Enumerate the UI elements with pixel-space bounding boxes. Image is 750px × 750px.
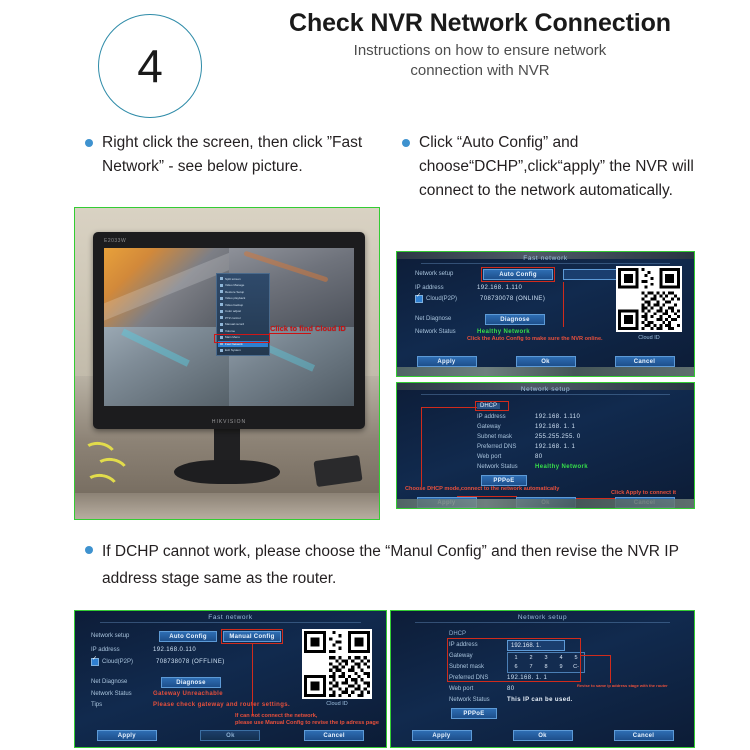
field-dhcp[interactable]: DHCP — [449, 631, 466, 637]
field-label: Subnet mask — [477, 434, 535, 440]
field-ip-address: IP address 192.168. 1.110 — [415, 285, 522, 291]
dialog-footer-buttons: Apply Ok Cancel — [75, 730, 386, 741]
context-menu-item[interactable]: PTZ control — [218, 315, 268, 321]
diagnose-button[interactable]: Diagnose — [161, 677, 221, 688]
bullet-dot-icon — [85, 139, 93, 147]
menu-bullet-icon — [220, 310, 223, 313]
instruction-text-2: Click “Auto Config” and choose“DCHP”,cli… — [419, 131, 732, 203]
network-status-value: This IP can be used. — [507, 697, 573, 703]
network-status-value: Healthy Network — [535, 464, 588, 470]
pppoe-button[interactable]: PPPoE — [451, 708, 497, 719]
context-menu-item[interactable]: Video backup — [218, 302, 268, 308]
annotation-leader-line — [610, 655, 611, 683]
dhcp-label: DHCP — [449, 631, 466, 637]
monitor-stand-base — [174, 460, 280, 484]
context-menu-label: Video Manage — [225, 283, 244, 287]
menu-bullet-icon — [220, 323, 223, 326]
field-value: 708738078 (OFFLINE) — [156, 659, 225, 665]
ok-button[interactable]: Ok — [516, 356, 576, 367]
bullet-dot-icon — [402, 139, 410, 147]
title-divider — [421, 263, 671, 264]
annotation-leader-line — [581, 655, 611, 656]
dialog-title: Network setup — [391, 614, 694, 621]
monitor-brand-label: HIKVISION — [212, 419, 246, 425]
monitor-photo: E2033W HIKVISION Split screen Video Mana… — [74, 207, 380, 520]
camera-channel-1 — [104, 248, 229, 327]
title-block: Check NVR Network Connection Instruction… — [230, 8, 730, 81]
field-network-setup: Network setup — [91, 633, 153, 639]
dialog-title: Fast network — [397, 255, 694, 262]
field-label: Network Status — [449, 697, 507, 703]
field-network-status: Network Status Healthy Network — [415, 329, 530, 335]
right-click-context-menu[interactable]: Split screen Video Manage Restore Setup … — [216, 273, 270, 356]
field-label: Network setup — [415, 271, 477, 277]
instruction-text-1: Right click the screen, then click ”Fast… — [102, 131, 375, 179]
context-menu-label: Volume — [225, 329, 235, 333]
cloud-id-qr-code — [616, 266, 682, 332]
field-value: 192.168. 1. 1 — [535, 444, 575, 450]
tips-value: Please check gateway and router settings… — [153, 702, 290, 708]
panel-annotation-line-1: If can not connect the network, — [235, 713, 317, 719]
ok-button[interactable]: Ok — [513, 730, 573, 741]
field-label: Web port — [449, 686, 507, 692]
slide-header: 4 Check NVR Network Connection Instructi… — [0, 0, 750, 120]
monitor-screen: Split screen Video Manage Restore Setup … — [104, 248, 354, 406]
nvr-fast-network-screenshot: Fast network Network setup Auto Config I… — [396, 251, 695, 377]
context-menu-label: Restore Setup — [225, 290, 244, 294]
field-ip-address: IP address 192.168. 1.110 — [477, 414, 580, 420]
field-value: 192.168. 1. 1 — [535, 424, 575, 430]
context-menu-label: Color adjust — [225, 309, 241, 313]
field-label: Net Diagnose — [91, 679, 153, 685]
photo-annotation-text: Click to find Cloud ID — [270, 324, 346, 333]
nvr-network-setup-dhcp-screenshot: Network setup DHCP IP address 192.168. 1… — [396, 382, 695, 509]
cloud-id-qr-code — [302, 629, 372, 699]
field-value: 255.255.255. 0 — [535, 434, 581, 440]
annotation-leader-line — [421, 407, 477, 408]
cancel-button[interactable]: Cancel — [615, 356, 675, 367]
field-label: Gateway — [477, 424, 535, 430]
field-gateway: Gateway 192.168. 1. 1 — [477, 424, 575, 430]
field-value: 80 — [535, 454, 542, 460]
context-menu-label: Split screen — [225, 277, 241, 281]
field-net-diagnose: Net Diagnose — [415, 316, 477, 322]
field-tips: Tips Please check gateway and router set… — [91, 702, 290, 708]
field-network-status: Network Status Gateway Unreachable — [91, 691, 223, 697]
dialog-footer-buttons: Apply Ok Cancel — [391, 730, 694, 741]
field-label: Network Status — [415, 329, 477, 335]
field-label: IP address — [477, 414, 535, 420]
cancel-button[interactable]: Cancel — [614, 730, 674, 741]
field-cloud-p2p: Cloud(P2P) 708738078 (OFFLINE) — [91, 658, 225, 666]
monitor-model-label: E2033W — [104, 238, 126, 244]
auto-config-highlight-box — [481, 267, 555, 282]
context-menu-item[interactable]: Video playback — [218, 295, 268, 301]
field-value: 192.168.0.110 — [153, 647, 196, 653]
field-network-status: Network Status This IP can be used. — [449, 697, 573, 703]
desk-surface — [75, 493, 379, 519]
manual-config-highlight-box — [221, 629, 283, 644]
page-subtitle-line-2: connection with NVR — [230, 61, 730, 81]
pppoe-button[interactable]: PPPoE — [481, 475, 527, 486]
dhcp-highlight-box — [475, 401, 509, 411]
context-menu-label: PTZ control — [225, 316, 241, 320]
menu-bullet-icon — [220, 303, 223, 306]
apply-button[interactable]: Apply — [412, 730, 472, 741]
ip-fields-highlight-box — [447, 638, 581, 682]
context-menu-label: Manual record — [225, 322, 244, 326]
field-label: Network setup — [91, 633, 153, 639]
context-menu-label: Video playback — [225, 296, 245, 300]
context-menu-item[interactable]: Volume — [218, 328, 268, 334]
context-menu-item[interactable]: Manual record — [218, 321, 268, 327]
apply-button[interactable]: Apply — [97, 730, 157, 741]
bullet-dot-icon — [85, 546, 93, 554]
title-divider — [421, 394, 671, 395]
panel-annotation: Click the Auto Config to make sure the N… — [467, 336, 603, 342]
cloud-id-label: Cloud ID — [302, 701, 372, 707]
step-number: 4 — [137, 43, 163, 89]
context-menu-item[interactable]: Video Manage — [218, 282, 268, 288]
menu-bullet-icon — [220, 349, 223, 352]
photo-edge-bottom — [397, 499, 694, 508]
field-value: 192.168. 1.110 — [535, 414, 580, 420]
context-menu-item[interactable]: Color adjust — [218, 308, 268, 314]
panel-annotation: Revise to same ip address stage with the… — [577, 683, 668, 688]
panel-annotation-line-2: please use Manual Config to revise the i… — [235, 720, 379, 726]
photo-edge-bottom — [397, 367, 694, 376]
field-value: 80 — [507, 686, 514, 692]
fast-network-highlight-box — [214, 334, 270, 343]
field-label: Network Status — [91, 691, 153, 697]
network-status-value: Healthy Network — [477, 329, 530, 335]
photo-annotation: Click to find Cloud ID — [270, 324, 346, 333]
instruction-bullet-2: Click “Auto Config” and choose“DCHP”,cli… — [402, 131, 732, 203]
panel-annotation-right: Click Apply to connect it — [611, 490, 676, 496]
menu-bullet-icon — [220, 290, 223, 293]
field-cloud-p2p: Cloud(P2P) 708730078 (ONLINE) — [415, 295, 545, 303]
step-number-badge: 4 — [98, 14, 202, 118]
menu-bullet-icon — [220, 316, 223, 319]
field-web-port: Web port 80 — [477, 454, 542, 460]
annotation-leader-line — [421, 407, 422, 487]
field-label: Cloud(P2P) — [426, 296, 480, 302]
slide-page: 4 Check NVR Network Connection Instructi… — [0, 0, 750, 750]
menu-bullet-icon — [220, 284, 223, 287]
context-menu-item[interactable]: Exit System — [218, 347, 268, 353]
field-label: Tips — [91, 702, 153, 708]
cloud-id-label: Cloud ID — [616, 335, 682, 341]
apply-button[interactable]: Apply — [417, 356, 477, 367]
menu-bullet-icon — [220, 277, 223, 280]
network-status-value: Gateway Unreachable — [153, 691, 223, 697]
field-net-diagnose: Net Diagnose — [91, 679, 153, 685]
context-menu-item[interactable]: Split screen — [218, 276, 268, 282]
cancel-button[interactable]: Cancel — [304, 730, 364, 741]
field-ip-address: IP address 192.168.0.110 — [91, 647, 196, 653]
field-subnet-mask: Subnet mask 255.255.255. 0 — [477, 434, 581, 440]
annotation-leader-line — [252, 644, 253, 716]
instruction-bullet-3: If DCHP cannot work, please choose the “… — [85, 538, 695, 592]
field-label: Network Status — [477, 464, 535, 470]
context-menu-label: Video backup — [225, 303, 243, 307]
instruction-text-3: If DCHP cannot work, please choose the “… — [102, 538, 695, 592]
field-label: Cloud(P2P) — [102, 659, 156, 665]
cloud-p2p-checkbox[interactable] — [415, 295, 423, 303]
nvr-fast-network-offline-screenshot: Fast network Network setup Auto Config M… — [74, 610, 387, 748]
instruction-bullet-1: Right click the screen, then click ”Fast… — [85, 131, 375, 179]
annotation-leader-line — [269, 333, 311, 334]
field-network-status: Network Status Healthy Network — [477, 464, 588, 470]
field-value: 192.168. 1.110 — [477, 285, 522, 291]
monitor-bezel: E2033W HIKVISION Split screen Video Mana… — [93, 232, 365, 429]
field-label: Web port — [477, 454, 535, 460]
panel-annotation-left: Choose DHCP mode,connect to the network … — [405, 486, 559, 492]
field-preferred-dns: Preferred DNS 192.168. 1. 1 — [477, 444, 575, 450]
dialog-footer-buttons: Apply Ok Cancel — [397, 356, 694, 367]
field-network-setup: Network setup — [415, 271, 477, 277]
annotation-leader-line — [563, 282, 564, 327]
menu-bullet-icon — [220, 297, 223, 300]
field-label: IP address — [91, 647, 153, 653]
page-title: Check NVR Network Connection — [230, 8, 730, 38]
menu-bullet-icon — [220, 329, 223, 332]
field-label: IP address — [415, 285, 477, 291]
title-divider — [100, 622, 361, 623]
field-label: Net Diagnose — [415, 316, 477, 322]
ok-button[interactable]: Ok — [200, 730, 260, 741]
field-web-port: Web port 80 — [449, 686, 514, 692]
camera-channel-3 — [104, 327, 229, 406]
dialog-title: Fast network — [75, 614, 386, 621]
diagnose-button[interactable]: Diagnose — [485, 314, 545, 325]
field-label: Preferred DNS — [477, 444, 535, 450]
dialog-title: Network setup — [397, 386, 694, 393]
context-menu-label: Exit System — [225, 348, 241, 352]
cloud-p2p-checkbox[interactable] — [91, 658, 99, 666]
auto-config-button[interactable]: Auto Config — [159, 631, 217, 642]
context-menu-item[interactable]: Restore Setup — [218, 289, 268, 295]
page-subtitle-line-1: Instructions on how to ensure network — [230, 41, 730, 61]
title-divider — [415, 622, 670, 623]
nvr-network-setup-manual-screenshot: Network setup DHCP IP address 192.168. 1… — [390, 610, 695, 748]
field-value: 708730078 (ONLINE) — [480, 296, 545, 302]
